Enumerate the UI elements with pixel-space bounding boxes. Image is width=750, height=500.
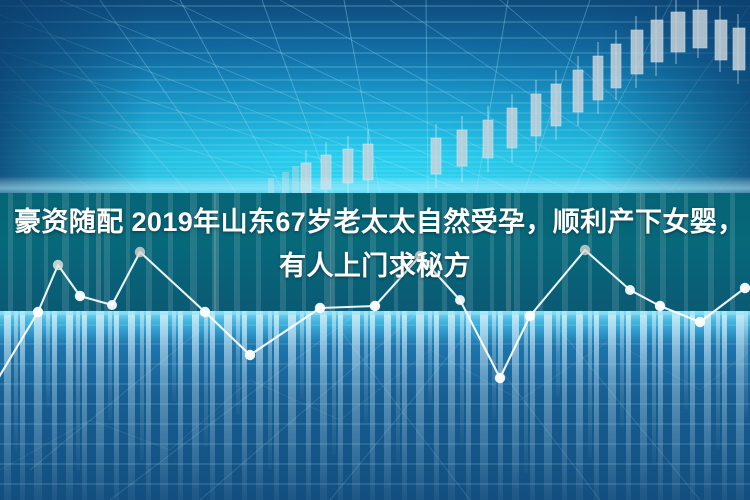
headline-line-1: 豪资随配 2019年山东67岁老太太自然受孕，顺利产下女婴，	[14, 200, 736, 244]
lower-region	[0, 311, 750, 500]
banner-image: 豪资随配 2019年山东67岁老太太自然受孕，顺利产下女婴， 有人上门求秘方	[0, 0, 750, 500]
sky-region	[0, 0, 750, 210]
lower-region-rim	[0, 311, 750, 315]
headline-line-2: 有人上门求秘方	[14, 244, 736, 288]
headline-text: 豪资随配 2019年山东67岁老太太自然受孕，顺利产下女婴， 有人上门求秘方	[0, 200, 750, 288]
